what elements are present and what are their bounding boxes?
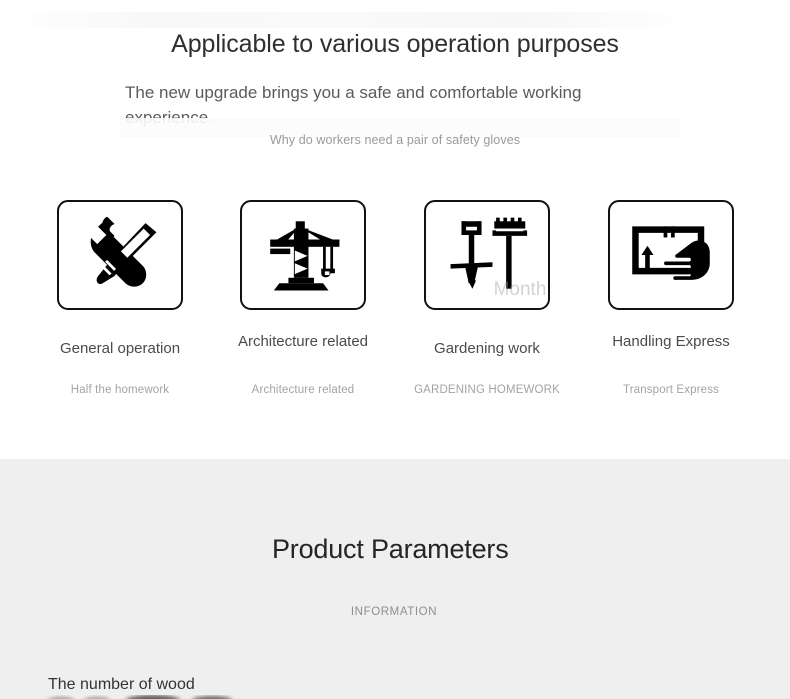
product-detail-page: Applicable to various operation purposes… <box>0 0 790 699</box>
page-title: Applicable to various operation purposes <box>0 28 790 61</box>
tower-crane-icon <box>257 214 349 296</box>
icon-frame <box>240 200 366 310</box>
section-title: Product Parameters <box>272 533 532 565</box>
icon-frame: Month <box>424 200 550 310</box>
feature-label: General operation <box>26 340 214 357</box>
icon-frame <box>57 200 183 310</box>
hero-kicker: Why do workers need a pair of safety glo… <box>0 132 790 149</box>
feature-card-general-operation[interactable]: General operation Half the homework <box>26 198 214 408</box>
wood-count-label: The number of wood <box>48 675 195 695</box>
feature-caption: Architecture related <box>209 383 397 398</box>
box-hand-icon <box>623 215 719 295</box>
feature-label: Gardening work <box>393 340 581 357</box>
hero-subtitle: The new upgrade brings you a safe and co… <box>125 80 662 130</box>
section-kicker: INFORMATION <box>272 604 516 620</box>
spade-rake-icon <box>441 214 533 296</box>
feature-card-architecture-related[interactable]: Architecture related Architecture relate… <box>209 198 397 408</box>
feature-caption: Transport Express <box>577 383 765 398</box>
product-parameters-section: Product Parameters INFORMATION The numbe… <box>0 459 790 699</box>
icon-frame <box>608 200 734 310</box>
operation-purposes-section: Applicable to various operation purposes… <box>0 0 790 459</box>
feature-label: Architecture related <box>209 333 397 350</box>
cut-off-photo-artifact <box>40 695 290 699</box>
background-artifact <box>0 12 790 28</box>
feature-caption: Half the homework <box>26 383 214 398</box>
wrench-screwdriver-icon <box>74 214 166 296</box>
feature-card-list: General operation Half the homework <box>0 198 790 408</box>
feature-label: Handling Express <box>577 333 765 350</box>
feature-card-gardening-work[interactable]: Month Gardening work GARDENING HOMEWORK <box>393 198 581 408</box>
feature-caption: GARDENING HOMEWORK <box>393 383 581 398</box>
feature-card-handling-express[interactable]: Handling Express Transport Express <box>577 198 765 408</box>
